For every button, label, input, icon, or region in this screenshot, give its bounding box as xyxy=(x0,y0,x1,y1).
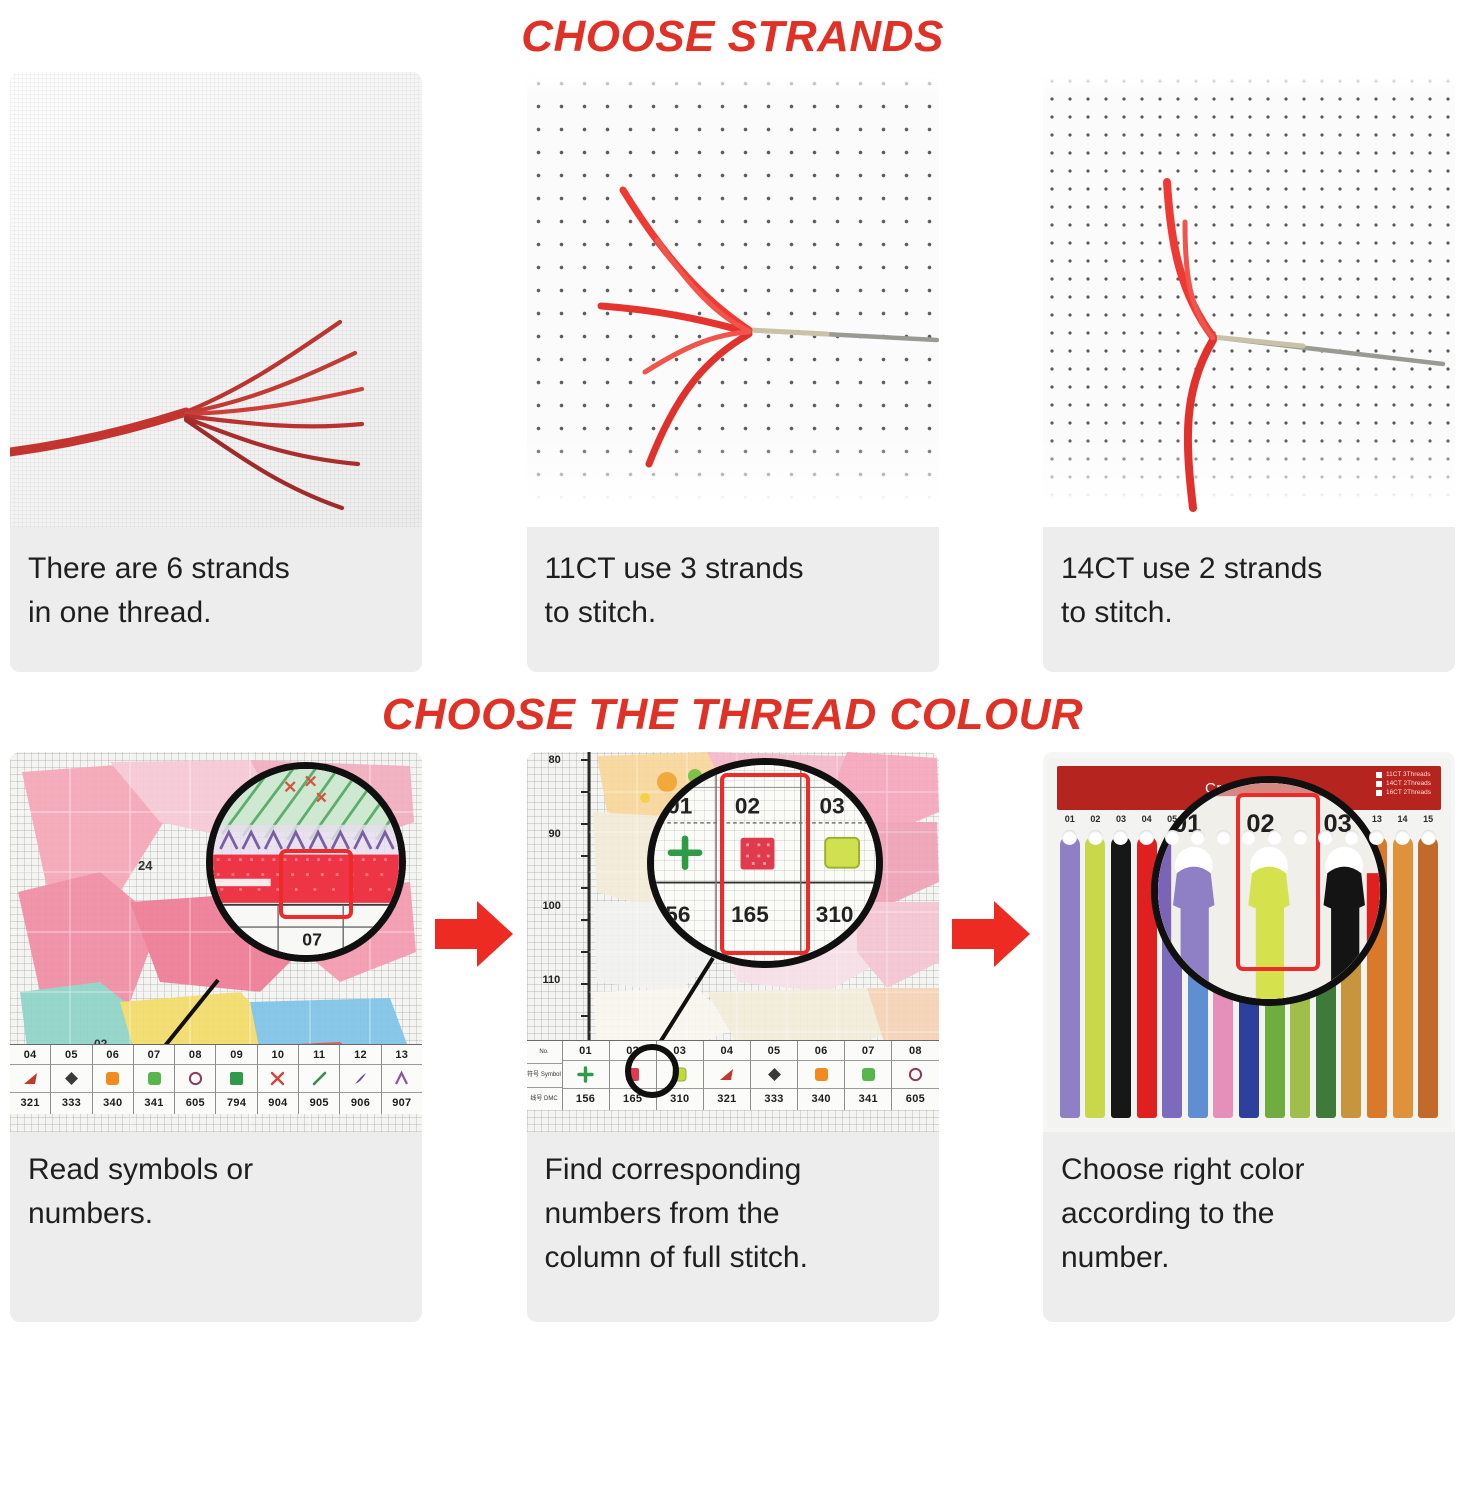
legend-symbol-icon xyxy=(258,1065,298,1093)
thread-peg-number: 14 xyxy=(1390,814,1416,824)
thread-skein xyxy=(1085,836,1105,1118)
check-label: 11CT 3Threads xyxy=(1386,771,1431,778)
photo-11ct-needle xyxy=(527,72,939,527)
legend-symbol-icon xyxy=(798,1061,844,1089)
magnifier-circle-thread-colors: 01 02 03 xyxy=(1151,776,1387,1006)
legend-number: 08 xyxy=(175,1045,215,1065)
check-label: 14CT 2Threads xyxy=(1386,780,1431,787)
thread-card-checklist: 11CT 3Threads 14CT 2Threads 16CT 2Thread… xyxy=(1376,771,1431,796)
legend-symbol-icon xyxy=(93,1065,133,1093)
section-title-choose-strands: CHOOSE STRANDS xyxy=(0,0,1465,72)
legend-cell[interactable]: 09794 xyxy=(216,1045,257,1114)
legend-cell[interactable]: 12906 xyxy=(340,1045,381,1114)
needle-icon xyxy=(1213,337,1443,364)
legend-number: 08 xyxy=(892,1041,938,1061)
legend-circle-marker xyxy=(625,1044,679,1098)
magnifier-circle-symbols: 3 07 xyxy=(206,762,406,962)
legend-cell[interactable]: 11905 xyxy=(299,1045,340,1114)
legend-cell[interactable]: 07341 xyxy=(134,1045,175,1114)
panel-11ct: 11CT use 3 strands to stitch. xyxy=(527,72,939,672)
panel-14ct: 14CT use 2 strands to stitch. xyxy=(1043,72,1455,672)
caption-line-2: to stitch. xyxy=(545,591,921,635)
legend-dmc-code: 333 xyxy=(51,1093,91,1113)
check-item: 11CT 3Threads xyxy=(1376,771,1431,778)
legend-cell[interactable]: 01156 xyxy=(563,1041,610,1110)
legend-symbol-icon xyxy=(216,1065,256,1093)
caption-line-3: number. xyxy=(1061,1236,1437,1280)
svg-text:56: 56 xyxy=(665,902,690,927)
thread-peg-number: 03 xyxy=(1108,814,1134,824)
legend-dmc-code: 340 xyxy=(93,1093,133,1113)
panel-find-numbers: 80 90 100 110 01 xyxy=(527,752,939,1322)
peg-hole xyxy=(1344,830,1359,845)
legend-cell[interactable]: 04321 xyxy=(704,1041,751,1110)
thread-peg[interactable] xyxy=(1108,828,1134,1122)
svg-text:03: 03 xyxy=(819,794,844,819)
arrow-2-wrap xyxy=(946,752,1036,1322)
highlight-box-magnified xyxy=(279,849,353,919)
thread-peg[interactable] xyxy=(1057,828,1083,1122)
highlight-box-thread-02 xyxy=(1236,793,1320,971)
legend-dmc-code: 321 xyxy=(10,1093,50,1113)
legend-cell[interactable]: 06340 xyxy=(798,1041,845,1110)
photo-six-strands xyxy=(10,72,422,527)
thread-peg[interactable] xyxy=(1390,828,1416,1122)
legend-dmc-code: 333 xyxy=(751,1089,797,1109)
legend-number: 07 xyxy=(845,1041,891,1061)
legend-number: 12 xyxy=(340,1045,380,1065)
legend-dmc-code: 605 xyxy=(175,1093,215,1113)
legend-cell[interactable]: 08605 xyxy=(892,1041,938,1110)
section-title-choose-thread-colour: CHOOSE THE THREAD COLOUR xyxy=(0,672,1465,752)
needle-with-2-strands-illustration xyxy=(1043,72,1455,527)
peg-hole xyxy=(1165,830,1180,845)
thread-peg-number: 04 xyxy=(1134,814,1160,824)
legend-row-labels: No.符号 Symbol线号 DMC xyxy=(527,1041,563,1110)
thread-peg-number: 01 xyxy=(1057,814,1083,824)
thread-peg[interactable] xyxy=(1415,828,1441,1122)
legend-number: 11 xyxy=(299,1045,339,1065)
peg-hole xyxy=(1216,830,1231,845)
legend-dmc-code: 794 xyxy=(216,1093,256,1113)
legend-cell[interactable]: 06340 xyxy=(93,1045,134,1114)
panel-six-strands: There are 6 strands in one thread. xyxy=(10,72,422,672)
legend-number: 13 xyxy=(382,1045,422,1065)
caption-line-2: to stitch. xyxy=(1061,591,1437,635)
photo-pattern-chart: 24 02 xyxy=(10,752,422,1132)
svg-text:3: 3 xyxy=(228,930,238,950)
caption-six-strands: There are 6 strands in one thread. xyxy=(10,527,422,672)
legend-symbol-icon xyxy=(563,1061,609,1089)
legend-dmc-code: 156 xyxy=(563,1089,609,1109)
needle-icon xyxy=(749,330,937,340)
red-right-arrow-icon xyxy=(952,897,1030,971)
legend-dmc-code: 340 xyxy=(798,1089,844,1109)
legend-dmc-code: 904 xyxy=(258,1093,298,1113)
caption-choose-color: Choose right color according to the numb… xyxy=(1043,1132,1455,1322)
caption-line-1: Find corresponding xyxy=(545,1148,921,1192)
legend-symbol-icon xyxy=(845,1061,891,1089)
top-panel-row: There are 6 strands in one thread. xyxy=(0,72,1465,672)
legend-symbol-icon xyxy=(340,1065,380,1093)
bottom-panel-row: 24 02 xyxy=(0,752,1465,1322)
legend-cell[interactable]: 10904 xyxy=(258,1045,299,1114)
peg-hole xyxy=(1088,830,1103,845)
legend-cell[interactable]: 08605 xyxy=(175,1045,216,1114)
legend-number: 01 xyxy=(563,1041,609,1061)
svg-text:07: 07 xyxy=(302,930,322,950)
legend-cell[interactable]: 07341 xyxy=(845,1041,892,1110)
legend-cell[interactable]: 05333 xyxy=(751,1041,798,1110)
legend-dmc-code: 321 xyxy=(704,1089,750,1109)
thread-skein xyxy=(1111,836,1131,1118)
checkbox-icon xyxy=(1376,772,1382,778)
caption-read-symbols: Read symbols or numbers. xyxy=(10,1132,422,1322)
legend-symbol-icon xyxy=(892,1061,938,1089)
caption-11ct: 11CT use 3 strands to stitch. xyxy=(527,527,939,672)
caption-line-2: in one thread. xyxy=(28,591,404,635)
photo-pattern-chart-numbers: 80 90 100 110 01 xyxy=(527,752,939,1132)
caption-line-1: 14CT use 2 strands xyxy=(1061,547,1437,591)
legend-symbol-icon xyxy=(751,1061,797,1089)
svg-text:310: 310 xyxy=(815,902,853,927)
photo-thread-card: Cross Stitch 11CT 3Threads 14CT 2Threads… xyxy=(1043,752,1455,1132)
legend-dmc-code: 341 xyxy=(845,1089,891,1109)
caption-line-1: Read symbols or xyxy=(28,1148,404,1192)
legend-symbol-icon xyxy=(51,1065,91,1093)
thread-skein xyxy=(1393,836,1413,1118)
legend-cell[interactable]: 05333 xyxy=(51,1045,92,1114)
thread-skein xyxy=(1418,836,1438,1118)
legend-dmc-code: 605 xyxy=(892,1089,938,1109)
needle-with-3-strands-illustration xyxy=(527,72,939,527)
legend-symbol-icon xyxy=(299,1065,339,1093)
caption-line-2: numbers from the xyxy=(545,1192,921,1236)
legend-symbol-icon xyxy=(175,1065,215,1093)
check-item: 14CT 2Threads xyxy=(1376,780,1431,787)
legend-dmc-code: 907 xyxy=(382,1093,422,1113)
peg-hole xyxy=(1293,830,1308,845)
check-label: 16CT 2Threads xyxy=(1386,789,1431,796)
legend-cell[interactable]: 13907 xyxy=(382,1045,422,1114)
legend-symbol-icon xyxy=(704,1061,750,1089)
svg-text:01: 01 xyxy=(667,794,692,819)
legend-number: 06 xyxy=(93,1045,133,1065)
legend-number: 06 xyxy=(798,1041,844,1061)
legend-symbol-icon xyxy=(10,1065,50,1093)
legend-number: 04 xyxy=(704,1041,750,1061)
caption-14ct: 14CT use 2 strands to stitch. xyxy=(1043,527,1455,672)
legend-number: 10 xyxy=(258,1045,298,1065)
thread-peg[interactable] xyxy=(1083,828,1109,1122)
caption-line-3: column of full stitch. xyxy=(545,1236,921,1280)
peg-hole xyxy=(1139,830,1154,845)
legend-strip-numbers: No.符号 Symbol线号 DMC0115602165033100432105… xyxy=(527,1040,939,1110)
thread-skein xyxy=(1060,836,1080,1118)
arrow-1-wrap xyxy=(429,752,519,1322)
legend-dmc-code: 905 xyxy=(299,1093,339,1113)
legend-number: 07 xyxy=(134,1045,174,1065)
peg-hole xyxy=(1421,830,1436,845)
legend-symbol-icon xyxy=(382,1065,422,1093)
caption-line-1: Choose right color xyxy=(1061,1148,1437,1192)
thread-peg-number: 02 xyxy=(1083,814,1109,824)
peg-hole xyxy=(1395,830,1410,845)
check-item: 16CT 2Threads xyxy=(1376,789,1431,796)
caption-line-2: according to the xyxy=(1061,1192,1437,1236)
legend-dmc-code: 341 xyxy=(134,1093,174,1113)
panel-choose-color: Cross Stitch 11CT 3Threads 14CT 2Threads… xyxy=(1043,752,1455,1322)
thread-strands-illustration xyxy=(10,72,422,527)
caption-find-numbers: Find corresponding numbers from the colu… xyxy=(527,1132,939,1322)
caption-line-1: There are 6 strands xyxy=(28,547,404,591)
photo-14ct-needle xyxy=(1043,72,1455,527)
caption-line-2: numbers. xyxy=(28,1192,404,1236)
panel-read-symbols: 24 02 xyxy=(10,752,422,1322)
legend-number: 04 xyxy=(10,1045,50,1065)
caption-line-1: 11CT use 3 strands xyxy=(545,547,921,591)
legend-dmc-code: 906 xyxy=(340,1093,380,1113)
thread-peg-number: 15 xyxy=(1415,814,1441,824)
legend-number: 09 xyxy=(216,1045,256,1065)
red-right-arrow-icon xyxy=(435,897,513,971)
legend-cell[interactable]: 04321 xyxy=(10,1045,51,1114)
legend-strip-symbols: 0432105333063400734108605097941090411905… xyxy=(10,1044,422,1114)
legend-number: 05 xyxy=(751,1041,797,1061)
magnifier-circle-numbers: 01 02 03 56 xyxy=(647,758,883,968)
highlight-box-column-02 xyxy=(720,773,810,955)
legend-symbol-icon xyxy=(134,1065,174,1093)
peg-hole xyxy=(1267,830,1282,845)
legend-number: 05 xyxy=(51,1045,91,1065)
